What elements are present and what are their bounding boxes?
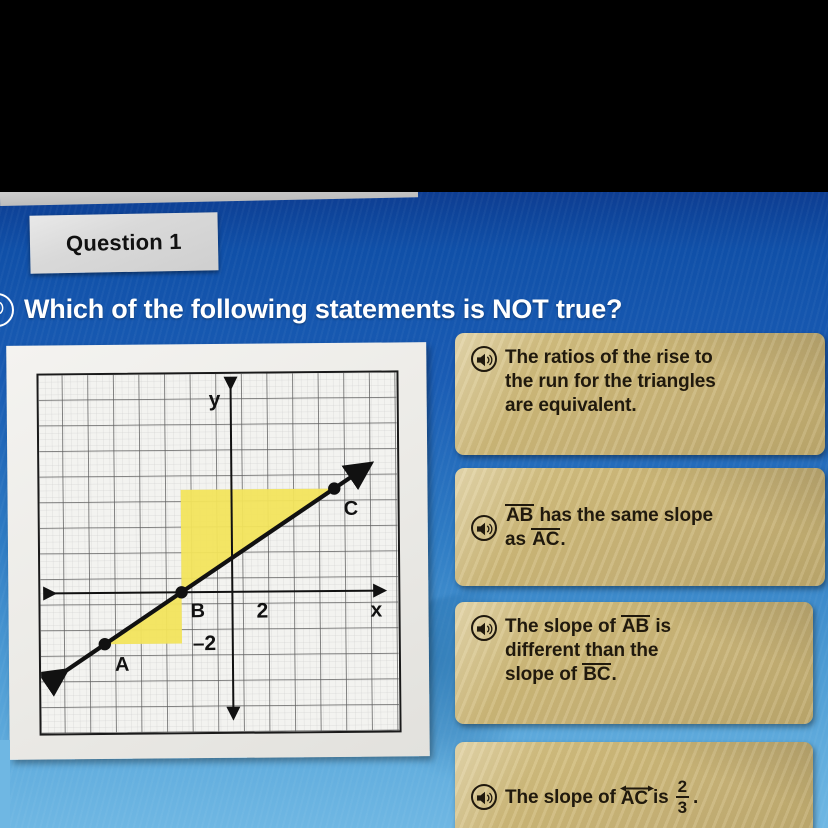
segment-bc: BC: [582, 663, 611, 685]
prompt-text-before: Which of the following statements is: [24, 294, 492, 324]
graph-plot-area: A B C y x 2 –2: [36, 370, 401, 735]
answer-d-text-1: The slope of: [505, 786, 616, 810]
answer-c-text-4: slope of: [505, 664, 577, 685]
answer-a-line-3: are equivalent.: [505, 395, 637, 416]
answer-c-text-3: different than the: [505, 640, 658, 661]
point-b-label: B: [190, 600, 205, 622]
prompt-text-emphasis: NOT: [492, 294, 548, 324]
answer-option-c[interactable]: The slope of AB is different than the sl…: [455, 602, 813, 724]
x-axis-label: x: [370, 599, 382, 622]
coordinate-graph-figure: A B C y x 2 –2: [6, 342, 430, 760]
speaker-icon[interactable]: [0, 293, 14, 327]
question-prompt-row: Which of the following statements is NOT…: [0, 282, 780, 336]
fraction-two-thirds: 2 3: [676, 778, 689, 816]
answer-option-d[interactable]: The slope of AC is 2 3 .: [455, 742, 813, 828]
point-c: [328, 482, 341, 495]
graph-svg: A B C y x 2 –2: [38, 372, 399, 733]
answer-d-text-2: is: [653, 786, 669, 810]
speaker-icon[interactable]: [471, 784, 497, 810]
answer-option-d-text: The slope of AC is 2 3 .: [505, 778, 698, 817]
y-axis-label: y: [209, 388, 221, 411]
answer-b-text-1: has the same slope: [539, 505, 713, 526]
y-tick-label-neg2: –2: [193, 632, 217, 655]
double-arrow-icon: [620, 784, 654, 793]
fraction-denominator: 3: [676, 796, 689, 816]
answer-option-b[interactable]: AB has the same slope as AC.: [455, 468, 825, 586]
answer-option-a-text: The ratios of the rise to the run for th…: [505, 345, 716, 418]
speaker-icon[interactable]: [471, 615, 497, 641]
speaker-icon[interactable]: [471, 346, 497, 372]
answer-b-text-3: .: [560, 529, 565, 550]
prompt-text-after: true?: [549, 294, 623, 324]
answer-d-text-3: .: [693, 786, 698, 810]
point-b: [175, 586, 188, 599]
answer-b-text-2: as: [505, 529, 526, 550]
point-c-label: C: [344, 498, 359, 520]
answer-c-text-2: is: [655, 616, 671, 637]
point-a: [99, 638, 112, 651]
slide-bottom-strip: [0, 740, 10, 828]
segment-ac: AC: [531, 528, 560, 550]
answer-c-text-5: .: [611, 664, 616, 685]
question-number-label: Question 1: [30, 229, 182, 258]
answer-option-c-text: The slope of AB is different than the sl…: [505, 614, 671, 687]
screenshot-root: Question 1 Which of the following statem…: [0, 0, 828, 828]
segment-ab: AB: [505, 504, 534, 526]
fraction-numerator: 2: [676, 778, 689, 796]
x-tick-label-2: 2: [256, 600, 268, 623]
speaker-icon[interactable]: [471, 515, 497, 541]
answer-option-a[interactable]: The ratios of the rise to the run for th…: [455, 333, 825, 455]
answer-a-line-1: The ratios of the rise to: [505, 347, 713, 368]
top-black-band: [0, 0, 828, 192]
question-number-tab: Question 1: [29, 212, 218, 274]
answer-a-line-2: the run for the triangles: [505, 371, 716, 392]
page-title: Which of the following statements is NOT…: [24, 294, 622, 325]
point-a-label: A: [115, 654, 130, 676]
answer-c-text-1: The slope of: [505, 616, 616, 637]
answer-option-b-text: AB has the same slope as AC.: [505, 503, 713, 552]
segment-ab: AB: [621, 615, 650, 637]
line-ac: AC: [621, 784, 648, 811]
